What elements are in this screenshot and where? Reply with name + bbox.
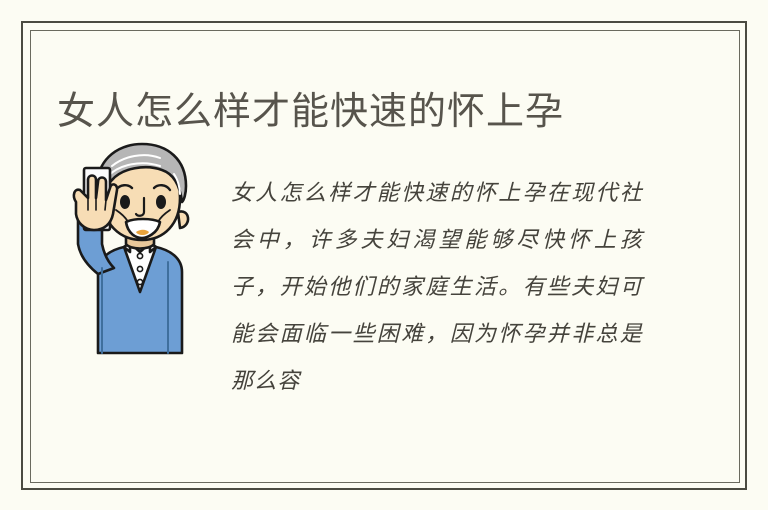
illustration-elderly-man-on-phone — [58, 140, 210, 355]
article-page: 女人怎么样才能快速的怀上孕 — [0, 0, 768, 510]
ear — [178, 211, 188, 228]
article-body-text: 女人怎么样才能快速的怀上孕在现代社会中，许多夫妇渴望能够尽快怀上孩子，开始他们的… — [231, 170, 643, 405]
shirt-buttons — [137, 253, 142, 284]
page-title: 女人怎么样才能快速的怀上孕 — [57, 89, 697, 135]
